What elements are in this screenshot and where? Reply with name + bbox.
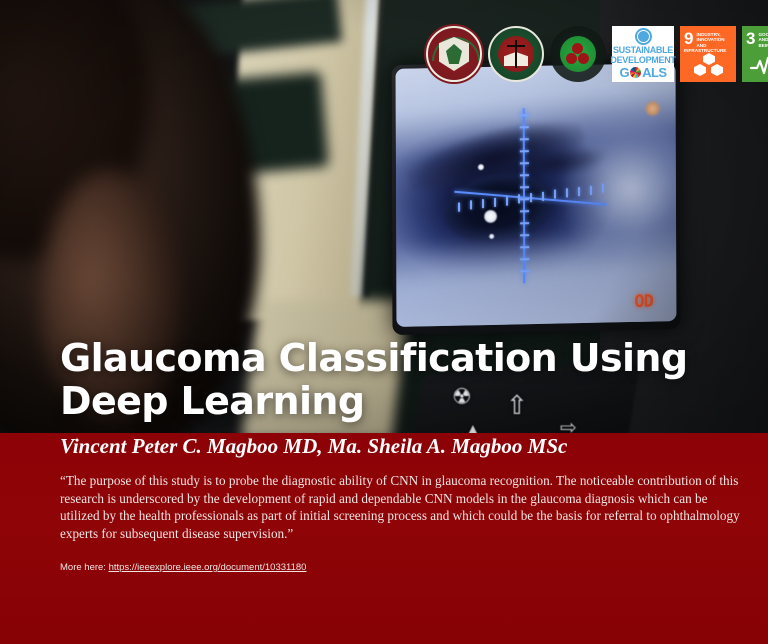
trefoil-seal-logo	[550, 26, 606, 82]
abstract-text: “The purpose of this study is to probe t…	[60, 472, 742, 542]
sdg-goal-3-number: 3	[746, 30, 755, 47]
paper-link[interactable]: https://ieeexplore.ieee.org/document/103…	[109, 562, 307, 573]
hospital-seal-disc	[498, 36, 534, 72]
sdg-goal-9-cubes-icon	[694, 53, 724, 77]
hospital-seal-logo	[488, 26, 544, 82]
sdg-goal-3-tile: 3 GOOD HEALTH AND WELL-BEING	[742, 26, 768, 82]
trefoil-lobe-right	[578, 53, 589, 64]
university-seal-shield	[439, 37, 469, 71]
trefoil-seal-circle	[560, 36, 596, 72]
hospital-seal-crossbar	[507, 45, 525, 47]
university-seal-logo	[426, 26, 482, 82]
eye-scan-image: OD	[396, 63, 677, 327]
un-emblem-icon	[635, 28, 652, 45]
more-here-line: More here: https://ieeexplore.ieee.org/d…	[60, 562, 306, 573]
sdg-logo: SUSTAINABLE DEVELOPMENT G ALS	[612, 26, 674, 82]
sdg-line-sustainable: SUSTAINABLE	[613, 46, 673, 55]
sdg-goal-9-number: 9	[684, 30, 693, 47]
od-eye-label: OD	[634, 292, 653, 312]
sdg-goals-word: G ALS	[619, 66, 666, 79]
fundus-camera-screen: OD	[392, 59, 681, 335]
page-title: Glaucoma Classification Using Deep Learn…	[60, 337, 700, 422]
more-here-label: More here:	[60, 562, 106, 573]
authors-line: Vincent Peter C. Magboo MD, Ma. Sheila A…	[60, 434, 567, 459]
poster-slide: OD ☢ ⇧ ▲ ⇨	[0, 0, 768, 644]
sdg-goals-g: G	[619, 66, 629, 79]
sdg-line-development: DEVELOPMENT	[610, 56, 675, 65]
sdg-color-wheel-icon	[630, 67, 641, 78]
heartbeat-icon	[750, 54, 768, 76]
sdg-goals-als: ALS	[642, 66, 667, 79]
trefoil-lobe-left	[566, 53, 577, 64]
sdg-goal-9-tile: 9 INDUSTRY, INNOVATION AND INFRASTRUCTUR…	[680, 26, 736, 82]
logo-strip: SUSTAINABLE DEVELOPMENT G ALS 9 INDUSTRY…	[426, 26, 768, 82]
